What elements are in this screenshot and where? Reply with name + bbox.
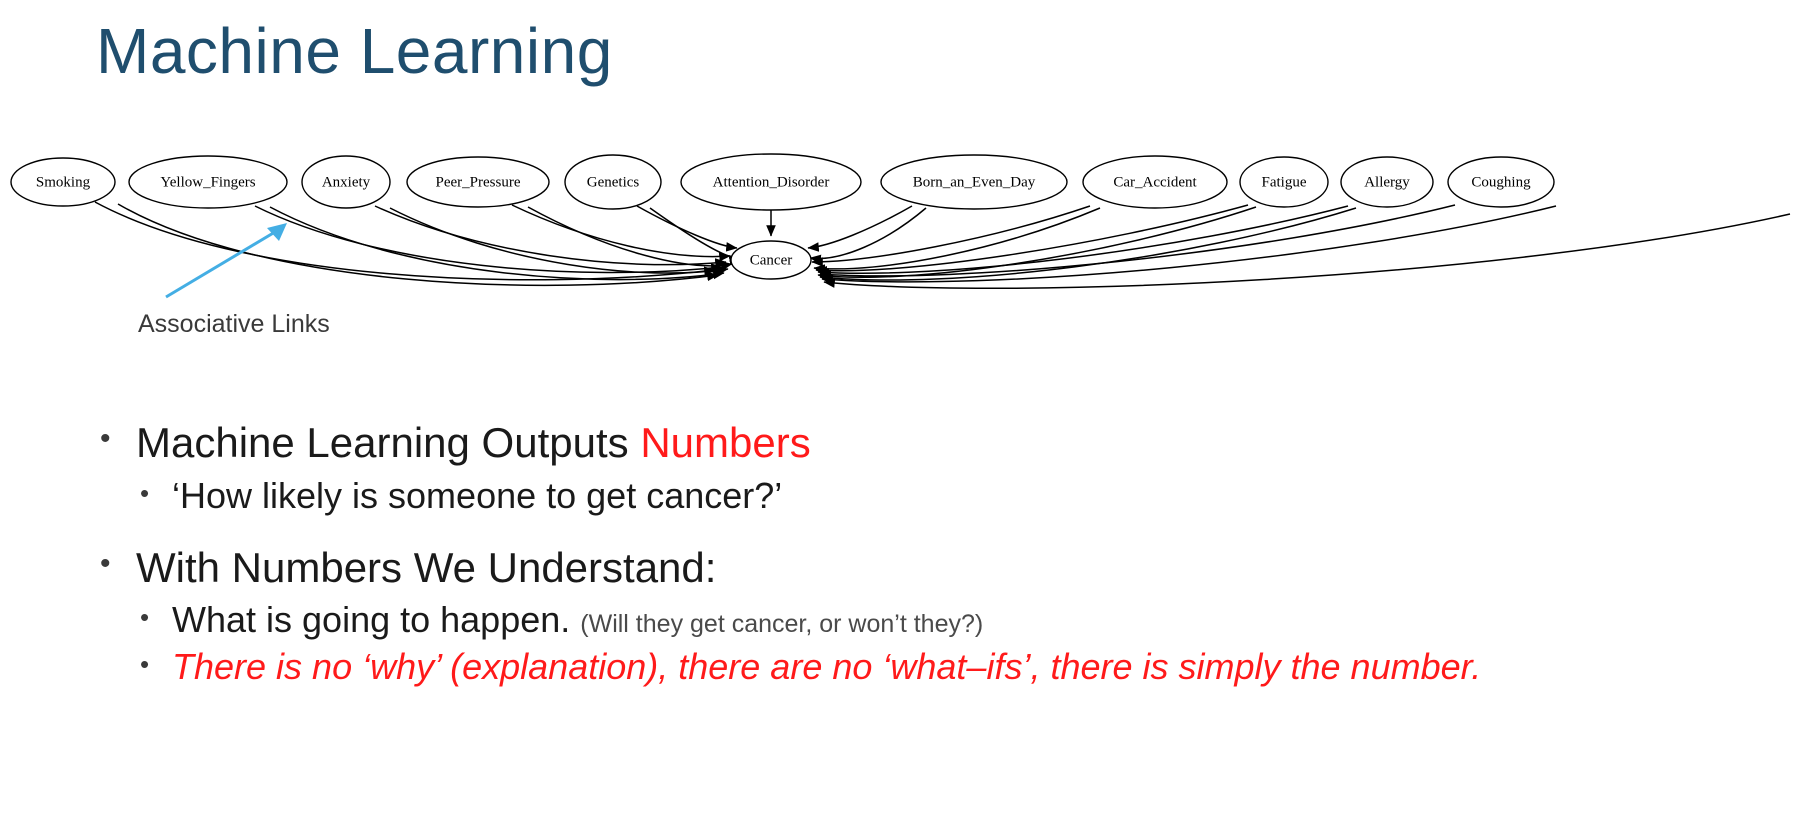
bullet-item-level-2: •‘How likely is someone to get cancer?’	[140, 474, 1760, 517]
bullet-dot-icon: •	[140, 474, 172, 512]
node-label: Peer_Pressure	[436, 174, 521, 190]
network-node-peer_pressure[interactable]: Peer_Pressure	[407, 157, 549, 207]
bullet-text: There is no ‘why’ (explanation), there a…	[172, 645, 1760, 688]
network-node-attention_disorder[interactable]: Attention_Disorder	[681, 154, 861, 210]
bullet-spacer	[100, 521, 1760, 543]
node-label: Car_Accident	[1113, 174, 1197, 190]
bullet-item-level-2: •There is no ‘why’ (explanation), there …	[140, 645, 1760, 688]
page-title: Machine Learning	[96, 14, 613, 88]
node-label: Born_an_Even_Day	[913, 174, 1036, 190]
bullet-span: Machine Learning Outputs	[136, 419, 640, 466]
bullet-item-level-1: •With Numbers We Understand:	[100, 543, 1760, 593]
bullet-text: What is going to happen. (Will they get …	[172, 598, 1760, 641]
network-node-coughing[interactable]: Coughing	[1448, 157, 1554, 207]
node-label: Allergy	[1364, 174, 1410, 190]
bullet-span: ‘How likely is someone to get cancer?’	[172, 475, 782, 516]
network-nodes: SmokingYellow_FingersAnxietyPeer_Pressur…	[11, 154, 1554, 210]
bullet-list: •Machine Learning Outputs Numbers•‘How l…	[100, 418, 1760, 693]
node-label: Smoking	[36, 174, 91, 190]
node-label: Attention_Disorder	[713, 174, 830, 190]
network-node-anxiety[interactable]: Anxiety	[302, 156, 390, 208]
bullet-dot-icon: •	[140, 598, 172, 636]
bullet-parenthetical: (Will they get cancer, or won’t they?)	[580, 610, 983, 638]
bullet-text: ‘How likely is someone to get cancer?’	[172, 474, 1760, 517]
bullet-dot-icon: •	[140, 645, 172, 683]
bullet-dot-icon: •	[100, 543, 136, 586]
network-node-born_an_even_day[interactable]: Born_an_Even_Day	[881, 155, 1067, 209]
bullet-emphasis-red: Numbers	[640, 419, 810, 466]
associative-links-pointer-icon	[130, 215, 320, 305]
network-node-genetics[interactable]: Genetics	[565, 155, 661, 209]
network-node-fatigue[interactable]: Fatigue	[1240, 157, 1328, 207]
bullet-span: What is going to happen.	[172, 599, 580, 640]
node-label: Fatigue	[1262, 174, 1307, 190]
bullet-emphasis-red-italic: There is no ‘why’ (explanation), there a…	[172, 646, 1481, 687]
node-label: Anxiety	[322, 174, 371, 190]
associative-links-label: Associative Links	[138, 310, 330, 339]
node-label: Genetics	[587, 174, 640, 190]
network-node-allergy[interactable]: Allergy	[1341, 157, 1433, 207]
network-node-car_accident[interactable]: Car_Accident	[1083, 156, 1227, 208]
bullet-text: Machine Learning Outputs Numbers	[136, 418, 1760, 468]
bullet-item-level-1: •Machine Learning Outputs Numbers	[100, 418, 1760, 468]
node-label: Coughing	[1471, 174, 1531, 190]
network-edges	[95, 202, 1790, 288]
bullet-item-level-2: •What is going to happen. (Will they get…	[140, 598, 1760, 641]
network-target-node: Cancer	[731, 241, 811, 279]
bullet-dot-icon: •	[100, 418, 136, 461]
bullet-text: With Numbers We Understand:	[136, 543, 1760, 593]
node-label: Cancer	[750, 252, 792, 268]
network-node-yellow_fingers[interactable]: Yellow_Fingers	[129, 156, 287, 208]
bullet-span: With Numbers We Understand:	[136, 544, 716, 591]
network-node-cancer[interactable]: Cancer	[731, 241, 811, 279]
node-label: Yellow_Fingers	[160, 174, 255, 190]
network-node-smoking[interactable]: Smoking	[11, 158, 115, 206]
